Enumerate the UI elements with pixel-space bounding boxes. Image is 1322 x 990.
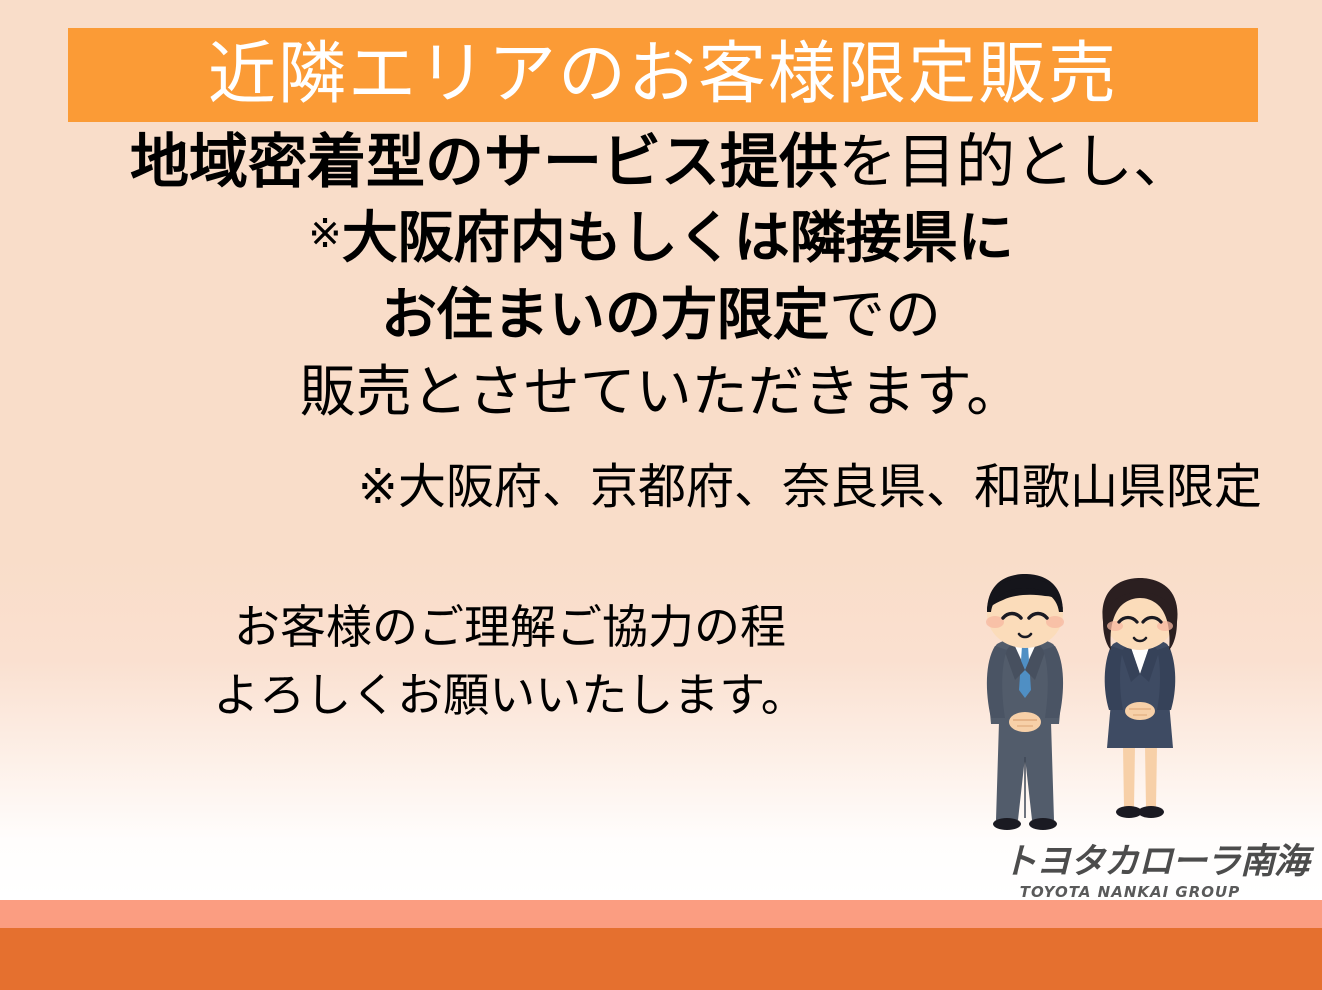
closing-line-1: お客様のご理解ご協力の程 xyxy=(0,604,1020,650)
businessman-figure xyxy=(986,574,1064,830)
reference-mark-icon: ※ xyxy=(308,211,342,257)
announcement-line-2: ※大阪府内もしくは隣接県に xyxy=(0,211,1322,267)
prefecture-note: ※大阪府、京都府、奈良県、和歌山県限定 xyxy=(0,463,1262,511)
poster-canvas: 近隣エリアのお客様限定販売 地域密着型のサービス提供を目的とし、 ※大阪府内もし… xyxy=(0,0,1322,990)
bottom-stripe-dark xyxy=(0,928,1322,990)
announcement-line-3-light: での xyxy=(829,283,941,348)
announcement-line-3-strong: お住まいの方限定 xyxy=(381,283,829,348)
title-banner: 近隣エリアのお客様限定販売 xyxy=(68,28,1258,122)
announcement-line-1-strong: 地域密着型のサービス提供 xyxy=(130,127,838,196)
company-logo: トヨタカローラ南海 TOYOTA NANKAI GROUP xyxy=(1002,845,1258,900)
bowing-staff-illustration xyxy=(975,572,1200,844)
logo-name-english: TOYOTA NANKAI GROUP xyxy=(1002,885,1258,900)
announcement-text-block: 地域密着型のサービス提供を目的とし、 ※大阪府内もしくは隣接県に お住まいの方限… xyxy=(0,132,1322,439)
announcement-line-4: 販売とさせていただきます。 xyxy=(0,365,1322,421)
announcement-line-2-strong: 大阪府内もしくは隣接県に xyxy=(342,206,1014,271)
closing-message-block: お客様のご理解ご協力の程 よろしくお願いいたします。 xyxy=(0,604,1020,718)
businesswoman-figure xyxy=(1102,578,1177,818)
logo-name-japanese: トヨタカローラ南海 xyxy=(1002,845,1258,880)
bottom-stripe-light xyxy=(0,900,1322,928)
closing-line-2: よろしくお願いいたします。 xyxy=(0,672,1020,718)
announcement-line-3: お住まいの方限定での xyxy=(0,288,1322,344)
announcement-line-1-light: を目的とし、 xyxy=(838,127,1192,196)
page-title: 近隣エリアのお客様限定販売 xyxy=(208,41,1118,109)
announcement-line-1: 地域密着型のサービス提供を目的とし、 xyxy=(0,132,1322,191)
